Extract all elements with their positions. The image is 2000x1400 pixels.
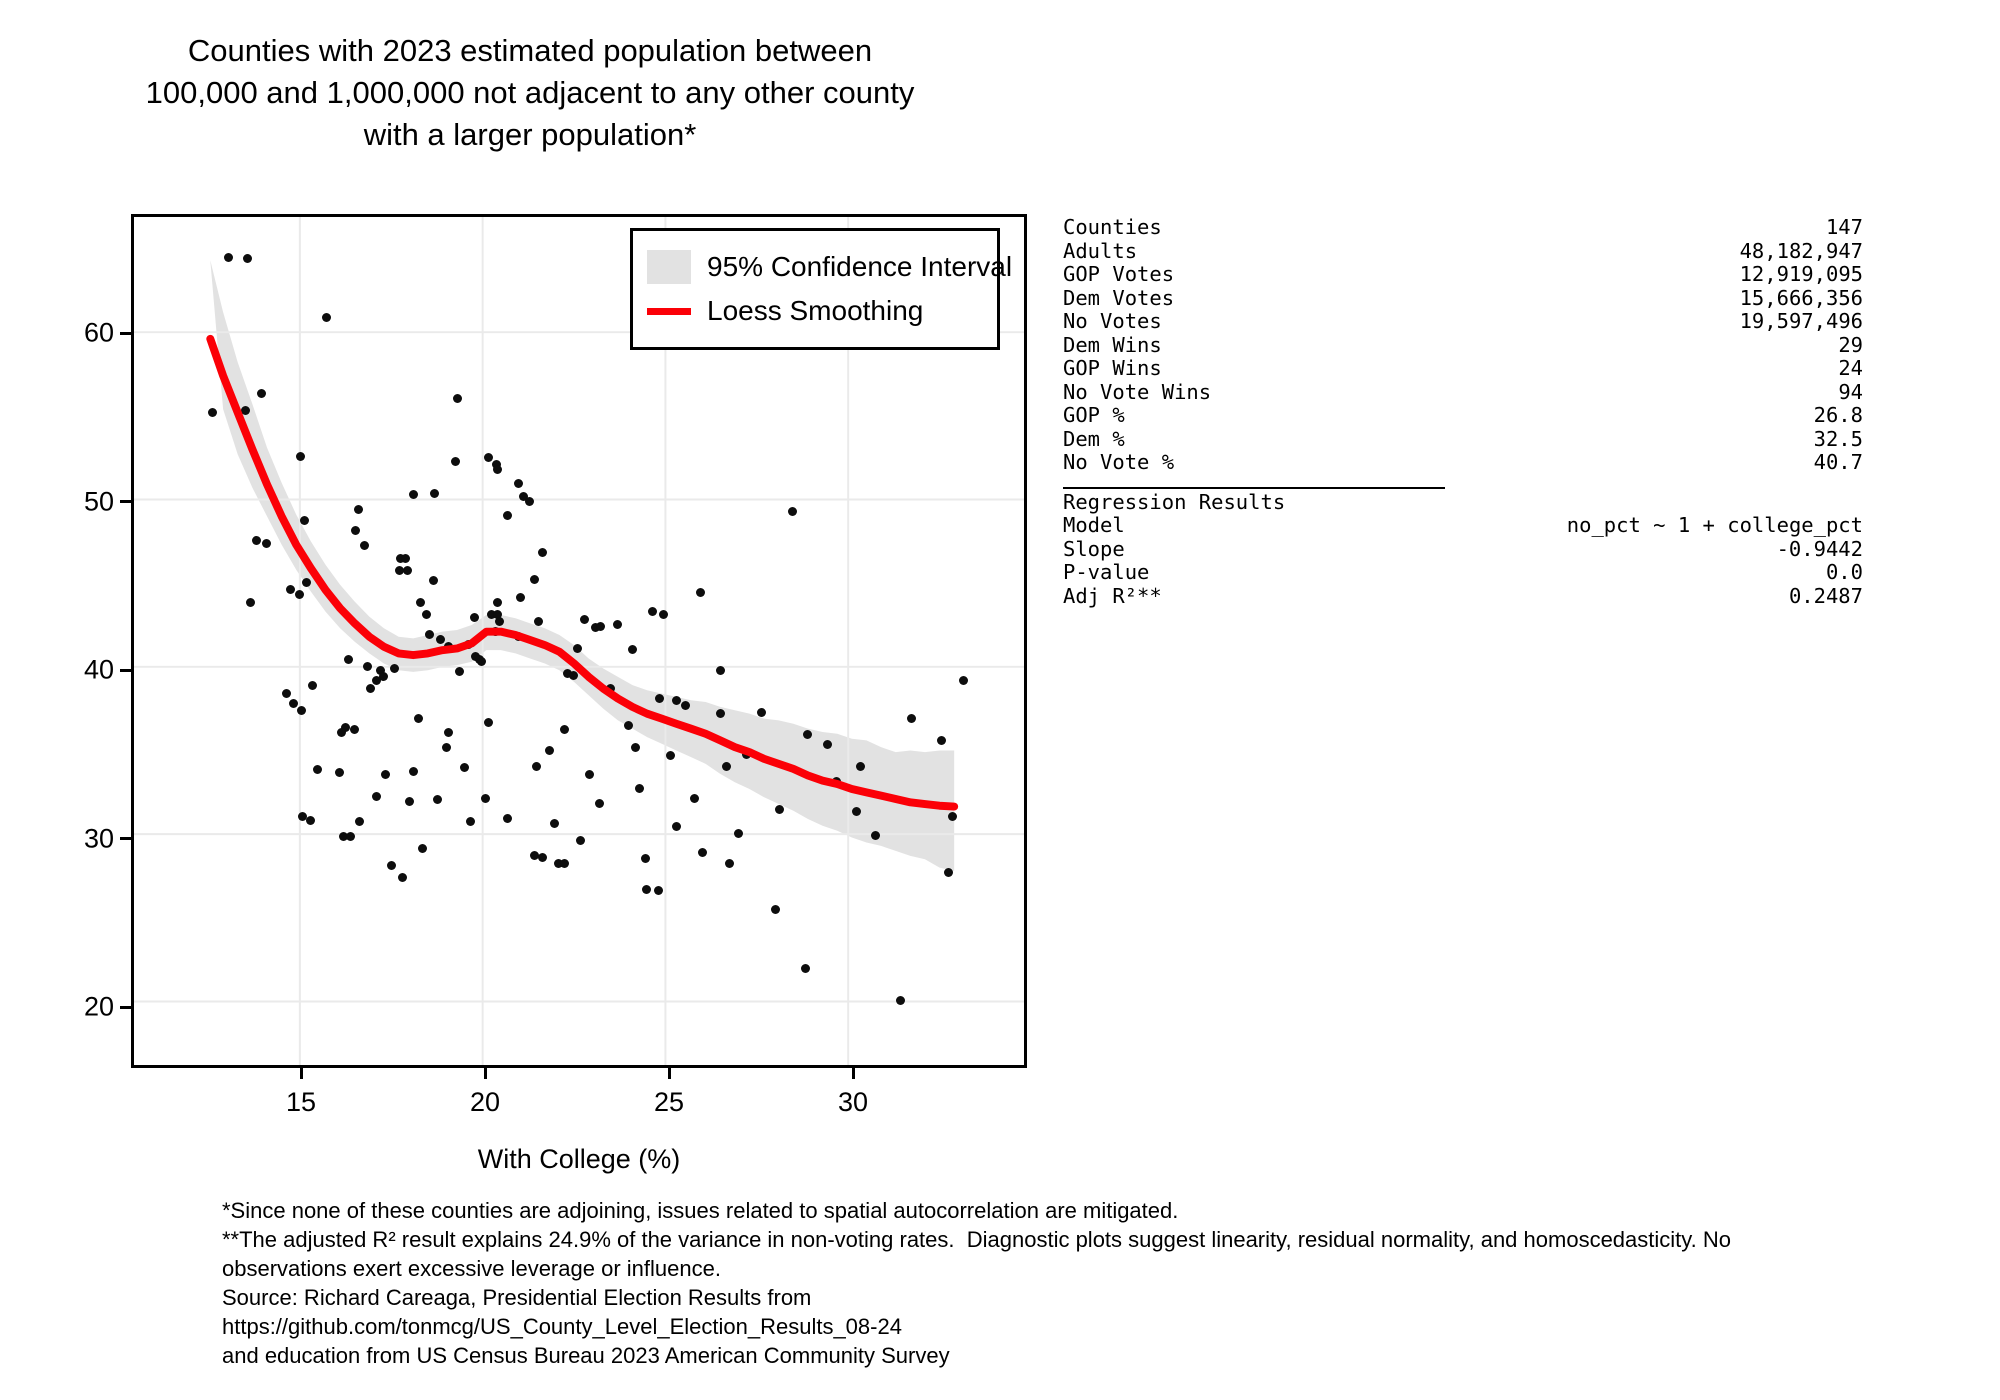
x-axis-tick: [484, 1065, 487, 1079]
regression-results-heading: Regression Results: [1063, 491, 1863, 515]
stat-key: Adults: [1063, 240, 1137, 264]
stat-row: GOP Wins24: [1063, 357, 1863, 381]
regression-key: Model: [1063, 514, 1125, 538]
y-axis-tick: [120, 1006, 134, 1009]
x-axis-tick: [300, 1065, 303, 1079]
legend-label-loess: Loess Smoothing: [707, 295, 923, 327]
x-axis-tick-label: 20: [470, 1087, 500, 1118]
summary-stats-rows: Counties147Adults48,182,947GOP Votes12,9…: [1063, 216, 1863, 475]
x-axis-tick-label: 30: [838, 1087, 868, 1118]
stat-key: GOP Wins: [1063, 357, 1162, 381]
footnote-education: and education from US Census Bureau 2023…: [222, 1341, 1822, 1370]
stat-row: Dem Wins29: [1063, 334, 1863, 358]
regression-key: P-value: [1063, 561, 1149, 585]
stat-row: GOP %26.8: [1063, 404, 1863, 428]
page-title: Counties with 2023 estimated population …: [0, 30, 1060, 156]
regression-key: Adj R²**: [1063, 585, 1162, 609]
x-axis-tick: [668, 1065, 671, 1079]
stat-value: 48,182,947: [1740, 240, 1863, 264]
stat-key: No Vote Wins: [1063, 381, 1211, 405]
summary-statistics-panel: Counties147Adults48,182,947GOP Votes12,9…: [1063, 216, 1863, 608]
stat-key: Dem Votes: [1063, 287, 1174, 311]
regression-results-rows: Modelno_pct ~ 1 + college_pctSlope-0.944…: [1063, 514, 1863, 608]
stat-row: GOP Votes12,919,095: [1063, 263, 1863, 287]
stat-row: No Votes19,597,496: [1063, 310, 1863, 334]
regression-row: Adj R²**0.2487: [1063, 585, 1863, 609]
regression-key: Slope: [1063, 538, 1125, 562]
stat-row: Counties147: [1063, 216, 1863, 240]
regression-value: no_pct ~ 1 + college_pct: [1567, 514, 1863, 538]
legend-item-ci: 95% Confidence Interval: [647, 245, 979, 289]
stat-key: Dem %: [1063, 428, 1125, 452]
y-axis-tick: [120, 332, 134, 335]
regression-value: 0.0: [1826, 561, 1863, 585]
stat-value: 32.5: [1814, 428, 1863, 452]
footnote-1: *Since none of these counties are adjoin…: [222, 1196, 1822, 1225]
y-axis-tick-label: 40: [84, 655, 114, 686]
regression-row: P-value0.0: [1063, 561, 1863, 585]
x-axis-tick-label: 15: [286, 1087, 316, 1118]
stat-value: 19,597,496: [1740, 310, 1863, 334]
stat-key: No Vote %: [1063, 451, 1174, 475]
stat-row: No Vote Wins94: [1063, 381, 1863, 405]
regression-row: Modelno_pct ~ 1 + college_pct: [1063, 514, 1863, 538]
legend-label-ci: 95% Confidence Interval: [707, 251, 1012, 283]
stat-key: Counties: [1063, 216, 1162, 240]
y-axis-tick-label: 60: [84, 318, 114, 349]
stat-key: Dem Wins: [1063, 334, 1162, 358]
footnotes: *Since none of these counties are adjoin…: [222, 1196, 1822, 1370]
footnote-source: Source: Richard Careaga, Presidential El…: [222, 1283, 1822, 1312]
loess-line-swatch: [647, 308, 691, 315]
regression-row: Slope-0.9442: [1063, 538, 1863, 562]
x-axis-tick: [852, 1065, 855, 1079]
y-axis-tick: [120, 669, 134, 672]
x-axis-label: With College (%): [131, 1144, 1027, 1175]
y-axis-tick-label: 30: [84, 823, 114, 854]
y-axis-tick-label: 50: [84, 486, 114, 517]
stat-value: 29: [1838, 334, 1863, 358]
stat-row: Dem %32.5: [1063, 428, 1863, 452]
section-divider: [1063, 487, 1445, 489]
stat-value: 147: [1826, 216, 1863, 240]
y-axis-tick-label: 20: [84, 992, 114, 1023]
footnote-2: **The adjusted R² result explains 24.9% …: [222, 1225, 1822, 1283]
chart-legend: 95% Confidence Interval Loess Smoothing: [630, 228, 1000, 350]
stat-row: Dem Votes15,666,356: [1063, 287, 1863, 311]
x-axis-tick-label: 25: [654, 1087, 684, 1118]
stat-row: No Vote %40.7: [1063, 451, 1863, 475]
stat-key: No Votes: [1063, 310, 1162, 334]
regression-value: 0.2487: [1789, 585, 1863, 609]
confidence-band-swatch: [647, 250, 691, 284]
regression-value: -0.9442: [1777, 538, 1863, 562]
stat-value: 94: [1838, 381, 1863, 405]
stat-value: 26.8: [1814, 404, 1863, 428]
stat-value: 24: [1838, 357, 1863, 381]
stat-value: 12,919,095: [1740, 263, 1863, 287]
stat-row: Adults48,182,947: [1063, 240, 1863, 264]
stat-value: 40.7: [1814, 451, 1863, 475]
y-axis-tick: [120, 837, 134, 840]
stat-key: GOP %: [1063, 404, 1125, 428]
stat-value: 15,666,356: [1740, 287, 1863, 311]
y-axis-tick: [120, 500, 134, 503]
stat-key: GOP Votes: [1063, 263, 1174, 287]
legend-item-loess: Loess Smoothing: [647, 289, 979, 333]
footnote-url: https://github.com/tonmcg/US_County_Leve…: [222, 1312, 1822, 1341]
